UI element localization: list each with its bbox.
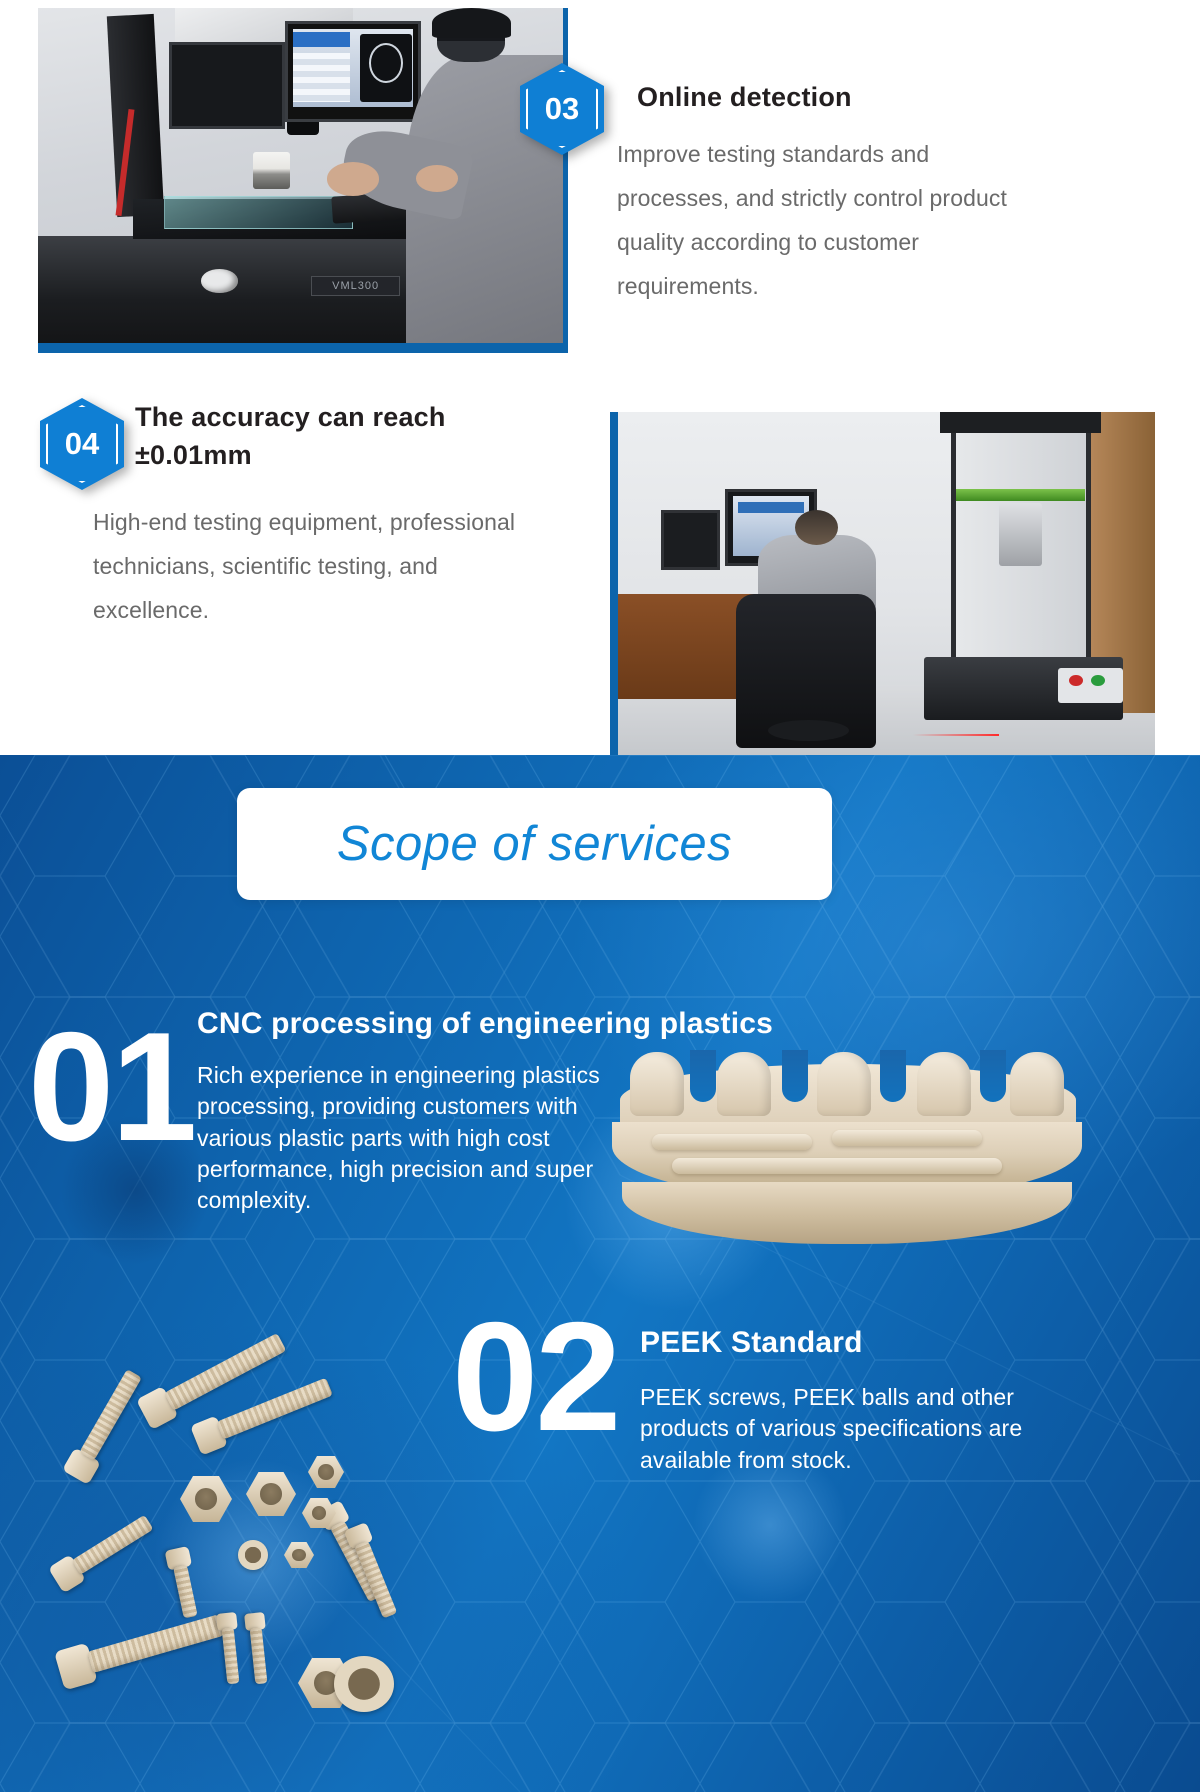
feature-badge-03: 03: [520, 63, 604, 155]
optical-measuring-machine-photo: VML300: [38, 8, 568, 353]
marketing-page: VML300 03 Online detection Improve testi…: [0, 0, 1200, 1792]
feature-title-accuracy: The accuracy can reach ±0.01mm: [135, 398, 555, 475]
service-body-cnc-processing: Rich experience in engineering plastics …: [197, 1060, 607, 1216]
feature-title-online-detection: Online detection: [637, 78, 1057, 116]
feature-body-online-detection: Improve testing standards and processes,…: [617, 132, 1017, 309]
tensile-testing-machine-photo: [610, 412, 1155, 772]
service-body-peek-standard: PEEK screws, PEEK balls and other produc…: [640, 1382, 1040, 1476]
badge-number: 04: [40, 398, 124, 490]
feature-body-accuracy: High-end testing equipment, professional…: [93, 500, 523, 632]
peek-machined-part-photo: [612, 1030, 1082, 1285]
machine-model-label: VML300: [311, 276, 400, 296]
service-number-02: 02: [452, 1310, 618, 1443]
photo-content: [618, 412, 1155, 762]
features-section: VML300 03 Online detection Improve testi…: [0, 0, 1200, 755]
badge-number: 03: [520, 63, 604, 155]
service-number-01: 01: [28, 1020, 194, 1153]
scope-of-services-banner: Scope of services: [237, 788, 832, 900]
peek-screws-and-nuts-photo: [40, 1400, 470, 1770]
service-title-peek-standard: PEEK Standard: [640, 1326, 1060, 1360]
banner-title: Scope of services: [337, 816, 732, 872]
feature-badge-04: 04: [40, 398, 124, 490]
service-title-cnc-processing: CNC processing of engineering plastics: [197, 1007, 957, 1041]
photo-content: VML300: [38, 8, 563, 343]
